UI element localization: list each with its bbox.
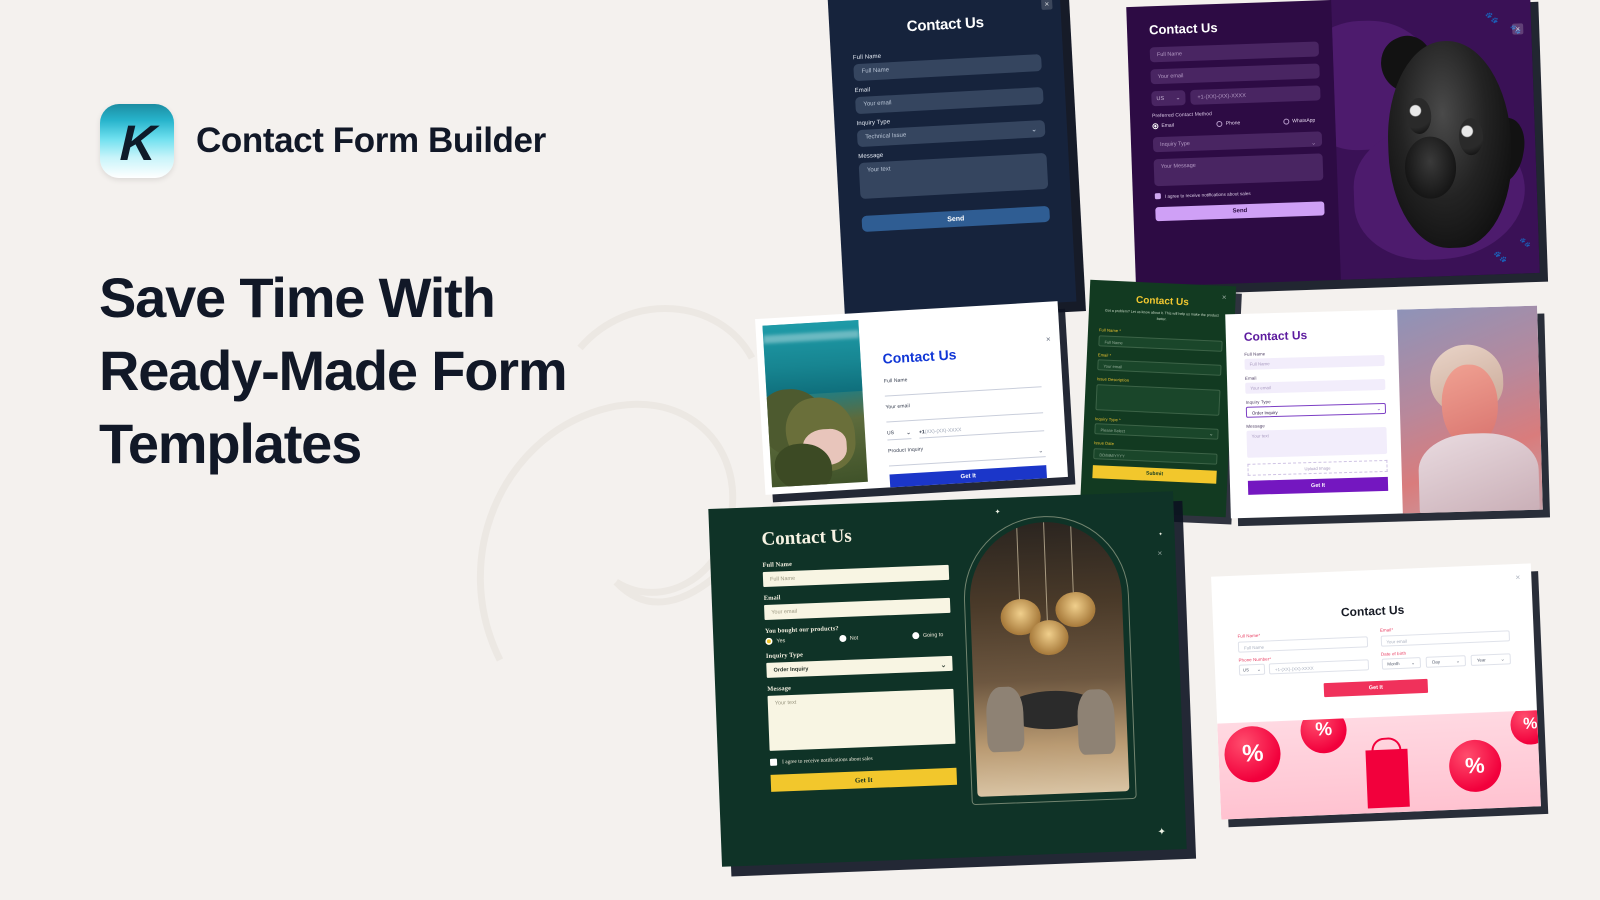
chevron-down-icon: ⌄ [1175, 94, 1180, 101]
inquiry-type-select[interactable]: Please Select ⌄ [1094, 423, 1218, 440]
year-value: Year [1477, 657, 1486, 662]
radio-dot-icon [1217, 121, 1223, 127]
coastal-beach-photo [762, 320, 867, 487]
page-title: Save Time With Ready-Made Form Templates [99, 262, 659, 480]
radio-label: Email [1161, 123, 1174, 129]
issue-description-textarea[interactable] [1095, 384, 1220, 416]
consent-label: I agree to receive notifications about s… [1165, 190, 1251, 198]
form-title: Contact Us [882, 341, 1040, 366]
paw-print-icon: 🐾 [1485, 11, 1499, 24]
country-code-value: US [1156, 95, 1164, 101]
message-textarea[interactable]: Your text [768, 689, 956, 751]
app-name: Contact Form Builder [196, 121, 546, 161]
form-pane: Contact Us Full Name Full Name Email You… [1225, 310, 1403, 519]
full-name-input[interactable]: Full Name [763, 565, 949, 587]
sparkle-icon: ✦ [1158, 532, 1162, 538]
inquiry-type-value: Order Inquiry [1252, 410, 1278, 416]
close-icon[interactable]: × [1512, 23, 1523, 34]
chevron-down-icon: ⌄ [1377, 406, 1381, 412]
inquiry-type-select[interactable]: Order Inquiry ⌄ [1246, 403, 1386, 418]
get-it-button[interactable]: Get It [771, 768, 958, 792]
paw-print-icon: 🐾 [1493, 250, 1507, 263]
radio-label: Going to [923, 632, 944, 639]
close-icon[interactable]: × [1512, 572, 1523, 583]
percent-balloon: % [1224, 725, 1282, 783]
percent-balloon: % [1510, 710, 1541, 745]
chevron-down-icon: ⌄ [1209, 431, 1213, 437]
form-pane: Contact Us Full Name Your email US ⌄ +1-… [1126, 0, 1341, 287]
radio-yes[interactable]: Yes [765, 637, 785, 645]
form-pane: Contact Us Full Name Your email US ⌄ +1(… [858, 309, 1060, 482]
checkbox-icon [770, 759, 777, 766]
chevron-down-icon: ⌄ [1500, 656, 1504, 662]
radio-email[interactable]: Email [1152, 123, 1174, 130]
radio-label: WhatsApp [1292, 118, 1315, 125]
consent-label: I agree to receive notifications about s… [782, 755, 873, 764]
form-pane: Contact Us Full Name* Full Name Email* Y… [1211, 563, 1536, 701]
get-it-button[interactable]: Get It [889, 465, 1047, 488]
close-icon[interactable]: × [1218, 292, 1229, 303]
template-card-green-large[interactable]: × Contact Us Full Name Full Name Email Y… [708, 491, 1186, 867]
percent-symbol: % [1523, 716, 1538, 735]
app-logo-icon: K [100, 104, 174, 178]
country-code-select[interactable]: US ⌄ [1151, 90, 1186, 106]
message-textarea[interactable]: Your text [859, 153, 1049, 199]
radio-dot-icon [912, 632, 919, 639]
close-icon[interactable]: × [1041, 0, 1053, 10]
form-title: Contact Us [1236, 598, 1508, 623]
template-card-purple-pug[interactable]: × Contact Us Full Name Your email US ⌄ +… [1126, 0, 1540, 287]
template-card-lavender-model[interactable]: × Contact Us Full Name Full Name Email Y… [1225, 306, 1543, 519]
full-name-group: Full Name* Full Name [1237, 628, 1367, 652]
radio-dot-icon [1152, 123, 1158, 129]
send-button[interactable]: Send [861, 206, 1050, 232]
email-input[interactable]: Your email [1380, 630, 1510, 646]
sparkle-icon: ✦ [994, 508, 1000, 516]
month-select[interactable]: Month ⌄ [1381, 657, 1421, 670]
template-card-navy[interactable]: × Contact Us Full Name Full Name Email Y… [828, 0, 1077, 314]
poster-canvas: K Contact Form Builder Save Time With Re… [0, 0, 1600, 900]
contact-method-radio-group: Email Phone WhatsApp [1152, 117, 1321, 129]
phone-row: US ⌄ +1-(XX)-(XX)-XXXX [1151, 85, 1320, 106]
inquiry-type-value: Technical Issue [865, 132, 906, 140]
get-it-button[interactable]: Get It [1324, 679, 1428, 697]
chevron-down-icon: ⌄ [1031, 125, 1037, 133]
phone-input[interactable]: +1(XX)-(XX)-XXXX [919, 422, 1044, 438]
email-group: Email* Your email [1380, 622, 1510, 646]
chevron-down-icon: ⌄ [906, 429, 911, 436]
inquiry-type-value: Order Inquiry [773, 666, 808, 673]
radio-label: Not [850, 635, 859, 641]
radio-not[interactable]: Not [839, 634, 859, 642]
day-value: Day [1432, 659, 1440, 664]
percent-balloon: % [1448, 739, 1502, 793]
close-icon[interactable]: × [1042, 333, 1054, 345]
email-input[interactable]: Your email [1245, 379, 1385, 394]
form-title: Contact Us [1149, 16, 1318, 37]
radio-label: Phone [1226, 120, 1241, 127]
form-grid: Full Name* Full Name Email* Your email P… [1237, 622, 1511, 675]
interior-dining-room-photo: ✦ ✦ ✦ [956, 491, 1187, 857]
phone-input[interactable]: +1-(XX)-(XX)-XXXX [1269, 659, 1369, 674]
country-code-select[interactable]: US ⌄ [1239, 664, 1265, 676]
sale-balloons-photo: % % % % [1217, 710, 1541, 819]
percent-symbol: % [1315, 719, 1333, 742]
pug-photo: 🐾 🐾 🐾 🐾 [1331, 0, 1540, 280]
inquiry-type-select[interactable]: Order Inquiry ⌄ [766, 656, 952, 678]
chevron-down-icon: ⌄ [1311, 140, 1316, 147]
chevron-down-icon: ⌄ [1456, 658, 1460, 664]
inquiry-type-value: Inquiry Type [1160, 140, 1190, 147]
radio-going-to[interactable]: Going to [912, 631, 944, 639]
consent-checkbox-row[interactable]: I agree to receive notifications about s… [770, 752, 956, 766]
chevron-down-icon: ⌄ [1257, 666, 1261, 672]
radio-dot-icon [765, 638, 772, 645]
inquiry-type-value: Please Select [1100, 428, 1125, 434]
day-select[interactable]: Day ⌄ [1426, 655, 1466, 668]
consent-checkbox-row[interactable]: I agree to receive notifications about s… [1155, 187, 1324, 199]
template-card-green-small[interactable]: × Contact Us Got a problem? Let us know … [1080, 280, 1236, 517]
percent-symbol: % [1242, 740, 1264, 769]
radio-label: Yes [776, 638, 785, 644]
country-code-select[interactable]: US ⌄ [887, 429, 912, 440]
email-input[interactable]: Your email [1097, 359, 1221, 376]
form-pane: Contact Us Full Name Full Name Email You… [708, 500, 970, 867]
email-input[interactable]: Your email [1150, 63, 1319, 84]
issue-date-input[interactable]: DD/MM/YYYY [1093, 448, 1217, 465]
country-code-value: US [1243, 667, 1249, 672]
form-title: Contact Us [1100, 293, 1224, 310]
dob-group: Date of birth Month ⌄ Day ⌄ Year ⌄ [1381, 646, 1511, 670]
radio-dot-icon [1283, 119, 1289, 125]
sparkle-icon: ✦ [1157, 827, 1166, 838]
year-select[interactable]: Year ⌄ [1471, 653, 1511, 666]
country-code-value: US [887, 430, 894, 437]
form-title: Contact Us [1244, 326, 1384, 344]
shopping-bag-icon [1366, 748, 1410, 808]
full-name-input[interactable]: Full Name [1244, 355, 1384, 370]
template-card-white-coastal[interactable]: × Contact Us Full Name Your email US ⌄ +… [755, 301, 1068, 495]
chevron-down-icon: ⌄ [1038, 447, 1043, 454]
chevron-down-icon: ⌄ [1411, 660, 1415, 666]
radio-dot-icon [839, 635, 846, 642]
phone-row: US ⌄ +1(XX)-(XX)-XXXX [887, 421, 1044, 440]
radio-phone[interactable]: Phone [1217, 120, 1241, 127]
submit-button[interactable]: Submit [1092, 465, 1216, 484]
radio-whatsapp[interactable]: WhatsApp [1283, 118, 1315, 125]
percent-balloon: % [1300, 710, 1348, 754]
email-input[interactable]: Your email [764, 598, 950, 620]
message-textarea[interactable]: Your text [1246, 427, 1387, 458]
chevron-down-icon: ⌄ [940, 661, 946, 669]
brand-lockup: K Contact Form Builder [100, 104, 546, 178]
template-card-pink-sale[interactable]: × Contact Us Full Name* Full Name Email*… [1211, 563, 1541, 819]
message-textarea[interactable]: Your Message [1154, 153, 1324, 186]
get-it-button[interactable]: Get It [1248, 477, 1388, 495]
logo-letter: K [119, 118, 155, 168]
phone-input[interactable]: +1-(XX)-(XX)-XXXX [1190, 85, 1320, 105]
form-title: Contact Us [761, 522, 948, 551]
full-name-input[interactable]: Full Name [1098, 335, 1222, 352]
checkbox-icon [1155, 193, 1161, 199]
upload-image-button[interactable]: Upload Image [1247, 460, 1387, 476]
send-button[interactable]: Send [1155, 201, 1324, 221]
fashion-model-photo [1397, 306, 1543, 514]
month-value: Month [1387, 661, 1399, 667]
form-subtitle: Got a problem? Let us know about it. Thi… [1105, 309, 1219, 325]
full-name-input[interactable]: Full Name [1150, 41, 1319, 62]
full-name-input[interactable]: Full Name [1238, 636, 1368, 652]
paw-print-icon: 🐾 [1519, 237, 1531, 248]
phone-placeholder: (XX)-(XX)-XXXX [925, 427, 962, 435]
percent-symbol: % [1464, 752, 1485, 779]
inquiry-type-select[interactable]: Inquiry Type ⌄ [1153, 131, 1322, 152]
phone-group: Phone Number* US ⌄ +1-(XX)-(XX)-XXXX [1238, 652, 1368, 676]
